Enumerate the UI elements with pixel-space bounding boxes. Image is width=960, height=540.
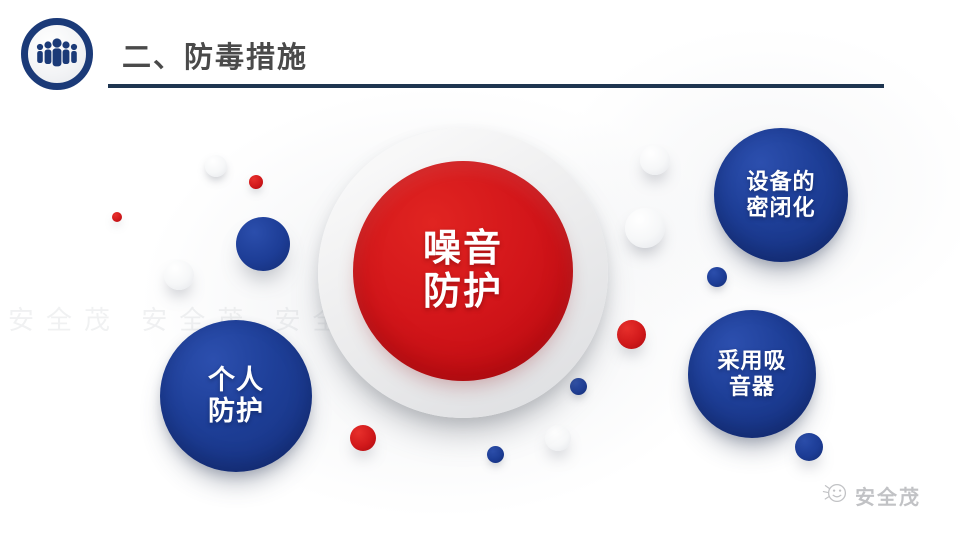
- people-group-icon: [21, 18, 93, 90]
- header-divider-line: [108, 84, 884, 88]
- corner-watermark: 安全茂: [822, 481, 921, 510]
- slide-canvas: 安全茂 安全茂 安全茂 安全茂 二、防毒措施: [0, 0, 960, 540]
- node-label-line2: 防护: [208, 396, 264, 427]
- center-hub-noise-protection[interactable]: 噪音 防护: [353, 161, 573, 381]
- node-sound-absorber[interactable]: 采用吸 音器: [688, 310, 816, 438]
- decor-dot: [617, 320, 646, 349]
- node-label-line1: 个人: [208, 365, 264, 396]
- node-label-line2: 音器: [717, 374, 786, 400]
- decor-dot: [570, 378, 587, 395]
- decor-dot: [545, 425, 571, 451]
- node-equipment-sealing-label: 设备的 密闭化: [746, 169, 815, 220]
- decor-dot: [707, 267, 727, 287]
- smiley-face-icon: [822, 482, 848, 509]
- decor-dot: [205, 155, 227, 177]
- decor-dot: [112, 212, 122, 222]
- decor-dot: [249, 175, 263, 189]
- node-personal-protection-label: 个人 防护: [208, 365, 264, 428]
- node-label-line1: 采用吸: [717, 348, 786, 374]
- node-label-line2: 密闭化: [746, 195, 815, 221]
- decor-dot: [625, 208, 665, 248]
- decor-dot: [236, 217, 290, 271]
- node-label-line1: 设备的: [746, 169, 815, 195]
- page-title: 二、防毒措施: [122, 34, 308, 76]
- node-equipment-sealing[interactable]: 设备的 密闭化: [714, 128, 848, 262]
- center-hub-ring: 噪音 防护: [318, 128, 608, 418]
- decor-dot: [487, 446, 504, 463]
- decor-dot: [640, 145, 670, 175]
- center-hub-label-line1: 噪音: [423, 228, 503, 271]
- decor-dot: [164, 260, 194, 290]
- decor-dot: [350, 425, 376, 451]
- node-sound-absorber-label: 采用吸 音器: [717, 348, 786, 399]
- slide-header: 二、防毒措施: [0, 0, 960, 104]
- node-personal-protection[interactable]: 个人 防护: [160, 320, 312, 472]
- decor-dot: [795, 433, 823, 461]
- center-hub-label: 噪音 防护: [423, 228, 503, 313]
- corner-watermark-text: 安全茂: [855, 481, 921, 510]
- center-hub-label-line2: 防护: [423, 271, 503, 314]
